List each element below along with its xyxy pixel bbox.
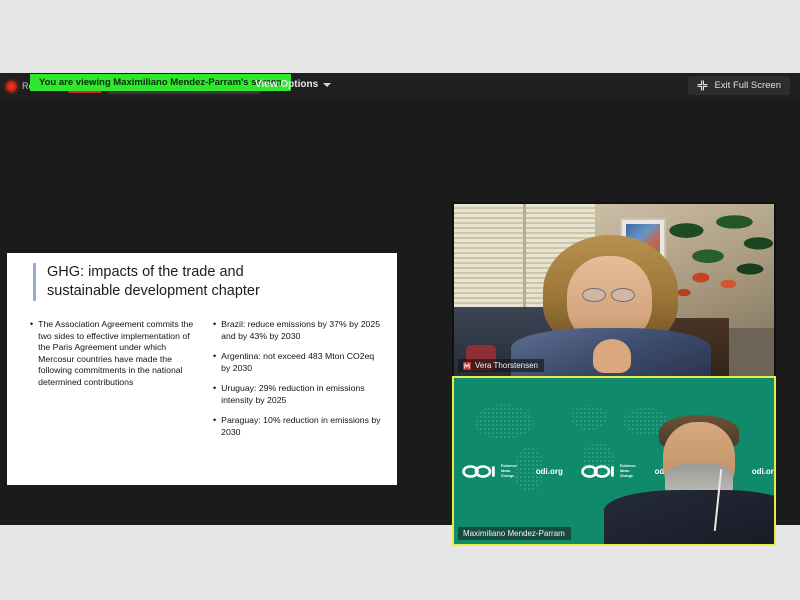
participant-name-tag: Maximiliano Mendez-Parram: [458, 527, 571, 540]
participant-figure: [537, 235, 684, 376]
slide-title-block: GHG: impacts of the trade and sustainabl…: [33, 263, 377, 301]
list-item: • Brazil: reduce emissions by 37% by 202…: [213, 319, 382, 342]
bullet-glyph: •: [213, 319, 216, 342]
list-item: • Argentina: not exceed 483 Mton CO2eq b…: [213, 351, 382, 374]
odi-logo-lockup: Evidence. Ideas. Change.: [581, 464, 637, 479]
bullet-glyph: •: [213, 351, 216, 374]
odi-logo-lockup: Evidence. Ideas. Change.: [462, 464, 518, 479]
video-feed: Evidence. Ideas. Change. odi.org Evidenc…: [454, 378, 774, 544]
slide-body: • The Association Agreement commits the …: [30, 319, 382, 448]
slide-column-right: • Brazil: reduce emissions by 37% by 202…: [213, 319, 382, 448]
chevron-down-icon: [323, 83, 331, 87]
list-item: • The Association Agreement commits the …: [30, 319, 199, 388]
bullet-text: Argentina: not exceed 483 Mton CO2eq by …: [221, 351, 382, 374]
odi-logo-icon: [581, 465, 615, 478]
list-item: • Uruguay: 29% reduction in emissions in…: [213, 383, 382, 406]
recording-dot-icon: [6, 81, 17, 92]
video-feed: [454, 204, 774, 376]
exit-full-screen-label: Exit Full Screen: [714, 80, 781, 91]
video-tile-maximiliano-mendez-parram[interactable]: Evidence. Ideas. Change. odi.org Evidenc…: [452, 376, 776, 546]
bullet-text: The Association Agreement commits the tw…: [38, 319, 199, 388]
bullet-glyph: •: [30, 319, 33, 388]
shared-slide[interactable]: GHG: impacts of the trade and sustainabl…: [7, 253, 397, 485]
collapse-arrows-icon: [697, 80, 708, 91]
video-tile-vera-thorstensen[interactable]: Vera Thorstensen: [452, 202, 776, 378]
view-options-label: View Options: [255, 79, 318, 90]
bullet-text: Uruguay: 29% reduction in emissions inte…: [221, 383, 382, 406]
participant-name: Vera Thorstensen: [475, 361, 538, 370]
slide-column-left: • The Association Agreement commits the …: [30, 319, 199, 448]
participant-name: Maximiliano Mendez-Parram: [463, 529, 565, 538]
bullet-glyph: •: [213, 383, 216, 406]
participant-name-tag: Vera Thorstensen: [458, 359, 544, 372]
odi-tagline: Evidence. Ideas. Change.: [501, 464, 518, 479]
slide-title: GHG: impacts of the trade and sustainabl…: [47, 263, 377, 301]
odi-logo-icon: [462, 465, 496, 478]
view-options-button[interactable]: View Options: [247, 75, 339, 94]
host-badge-icon: [463, 362, 471, 370]
bullet-glyph: •: [213, 415, 216, 438]
bullet-text: Brazil: reduce emissions by 37% by 2025 …: [221, 319, 382, 342]
participant-figure: [633, 415, 767, 544]
glasses: [582, 288, 635, 300]
bullet-text: Paraguay: 10% reduction in emissions by …: [221, 415, 382, 438]
exit-full-screen-button[interactable]: Exit Full Screen: [688, 76, 790, 95]
screenshot-root: Recording LIVE on Custom Live Streaming …: [0, 0, 800, 600]
zoom-meeting-window: Recording LIVE on Custom Live Streaming …: [0, 73, 800, 525]
odi-url: odi.org: [536, 467, 563, 476]
zoom-top-bar: Recording LIVE on Custom Live Streaming …: [0, 73, 800, 99]
list-item: • Paraguay: 10% reduction in emissions b…: [213, 415, 382, 438]
